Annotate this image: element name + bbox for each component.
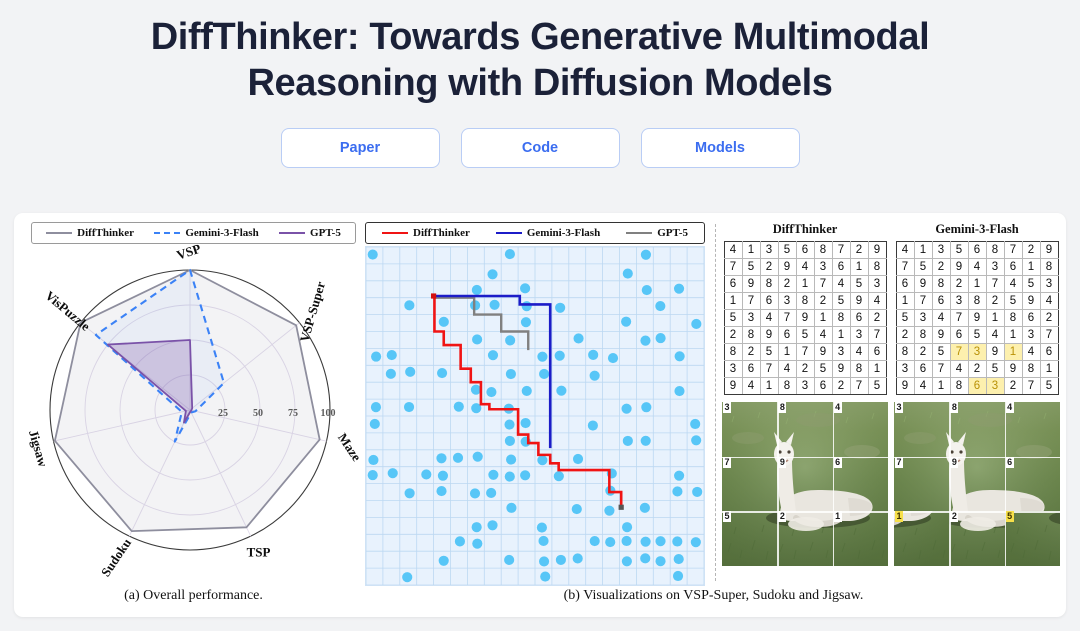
sudoku-cell: 9: [950, 259, 968, 276]
sudoku-cell: 7: [896, 259, 914, 276]
maze-legend: DiffThinker Gemini-3-Flash GPT-5: [365, 222, 705, 244]
sudoku-cell: 8: [914, 327, 932, 344]
sudoku-cell: 5: [778, 242, 796, 259]
svg-text:100: 100: [321, 408, 336, 419]
sudoku-cell: 7: [950, 344, 968, 361]
maze-obstacle-dot: [641, 537, 651, 547]
sudoku-cell: 8: [986, 242, 1004, 259]
jigsaw-tile-number: 7: [723, 457, 731, 468]
sudoku-cell: 2: [742, 344, 760, 361]
sudoku-jigsaw-column: DiffThinker 4135687297529436186982174531…: [722, 220, 1060, 587]
panel-divider: [715, 224, 716, 581]
maze-obstacle-dot: [488, 470, 498, 480]
sudoku-row: 367425981: [896, 361, 1058, 378]
title-line-2: Reasoning with Diffusion Models: [0, 60, 1080, 106]
maze-obstacle-dot: [505, 249, 515, 259]
sudoku-cell: 3: [986, 259, 1004, 276]
sudoku-cell: 8: [1004, 310, 1022, 327]
sudoku-cell: 2: [950, 276, 968, 293]
sudoku-row: 534791862: [724, 310, 886, 327]
maze-obstacle-dot: [506, 455, 516, 465]
jigsaw-tile: 8: [777, 402, 832, 457]
sudoku-cell: 1: [814, 310, 832, 327]
sudoku-cell: 9: [850, 293, 868, 310]
jigsaw-tile-number: 5: [723, 511, 731, 522]
jigsaw-tile: 7: [894, 457, 949, 512]
sudoku-cell: 6: [968, 242, 986, 259]
sudoku-cell: 5: [986, 361, 1004, 378]
maze-obstacle-dot: [572, 504, 582, 514]
jigsaw-tile: 2: [949, 511, 1004, 566]
jigsaw-tile: 4: [1005, 402, 1060, 457]
sudoku-cell: 5: [850, 276, 868, 293]
sudoku-cell: 3: [760, 242, 778, 259]
gemini-results-title: Gemini-3-Flash: [935, 222, 1018, 237]
maze-obstacle-dot: [404, 402, 414, 412]
maze-obstacle-dot: [656, 333, 666, 343]
maze-obstacle-dot: [370, 419, 380, 429]
jigsaw-tile: 6: [833, 457, 888, 512]
maze-obstacle-dot: [421, 469, 431, 479]
sudoku-grid-gemini: 4135687297529436186982174531763825945347…: [896, 241, 1059, 395]
sudoku-table: 4135687297529436186982174531763825945347…: [896, 241, 1059, 395]
maze-obstacle-dot: [640, 503, 650, 513]
sudoku-cell: 6: [896, 276, 914, 293]
sudoku-cell: 7: [1022, 378, 1040, 395]
sudoku-cell: 1: [986, 310, 1004, 327]
maze-obstacle-dot: [556, 386, 566, 396]
radar-axis-label: TSP: [247, 544, 271, 559]
paper-button[interactable]: Paper: [281, 128, 440, 168]
maze-path: [434, 296, 551, 448]
radar-legend: DiffThinker Gemini-3-Flash GPT-5: [31, 222, 356, 244]
sudoku-row: 413568729: [896, 242, 1058, 259]
maze-obstacle-dot: [404, 300, 414, 310]
sudoku-cell: 7: [1004, 242, 1022, 259]
sudoku-cell: 6: [1040, 344, 1058, 361]
sudoku-cell: 3: [832, 344, 850, 361]
sudoku-cell: 3: [896, 361, 914, 378]
maze-obstacle-dot: [455, 536, 465, 546]
maze-obstacle-dot: [490, 300, 500, 310]
sudoku-cell: 9: [796, 310, 814, 327]
sudoku-cell: 8: [796, 293, 814, 310]
maze-obstacle-dot: [522, 386, 532, 396]
maze-obstacle-dot: [642, 285, 652, 295]
jigsaw-grid-line: [894, 457, 1060, 458]
sudoku-cell: 6: [1004, 259, 1022, 276]
jigsaw-tile-number: 4: [1006, 402, 1014, 413]
maze-obstacle-dot: [608, 353, 618, 363]
sudoku-cell: 5: [742, 259, 760, 276]
jigsaw-tile-number: 1: [895, 511, 903, 522]
visualization-panel: DiffThinker Gemini-3-Flash GPT-5: [359, 220, 1060, 587]
sudoku-row: 752943618: [724, 259, 886, 276]
line-swatch-icon: [496, 232, 522, 234]
sudoku-cell: 1: [796, 276, 814, 293]
sudoku-cell: 1: [932, 378, 950, 395]
svg-text:25: 25: [218, 408, 228, 419]
jigsaw-tile-number: 6: [834, 457, 842, 468]
sudoku-cell: 1: [868, 361, 886, 378]
maze-legend-item-gpt5: GPT-5: [626, 227, 688, 239]
sudoku-cell: 7: [850, 378, 868, 395]
sudoku-cell: 3: [796, 378, 814, 395]
jigsaw-tile-number: 7: [895, 457, 903, 468]
sudoku-row: 825179346: [724, 344, 886, 361]
line-swatch-icon: [279, 232, 305, 234]
sudoku-cell: 7: [950, 310, 968, 327]
maze-obstacle-dot: [623, 268, 633, 278]
sudoku-row: 534791862: [896, 310, 1058, 327]
sudoku-cell: 4: [1004, 276, 1022, 293]
maze-obstacle-dot: [386, 369, 396, 379]
maze-obstacle-dot: [488, 350, 498, 360]
radar-axis-label: Jigsaw: [26, 428, 51, 469]
maze-legend-item-diffthinker: DiffThinker: [382, 227, 470, 239]
sudoku-cell: 3: [986, 378, 1004, 395]
jigsaw-grid-line: [833, 402, 834, 566]
maze-obstacle-dot: [674, 284, 684, 294]
sudoku-cell: 2: [850, 242, 868, 259]
models-button[interactable]: Models: [641, 128, 800, 168]
maze-obstacle-dot: [655, 556, 665, 566]
maze-obstacle-dot: [573, 454, 583, 464]
sudoku-cell: 7: [796, 344, 814, 361]
maze-obstacle-dot: [405, 367, 415, 377]
sudoku-cell: 8: [932, 276, 950, 293]
sudoku-cell: 8: [1022, 361, 1040, 378]
sudoku-cell: 1: [914, 242, 932, 259]
maze-obstacle-dot: [641, 436, 651, 446]
sudoku-cell: 3: [868, 276, 886, 293]
jigsaw-tile: 6: [1005, 457, 1060, 512]
jigsaw-tile-number: 8: [778, 402, 786, 413]
maze-obstacle-dot: [521, 317, 531, 327]
sudoku-cell: 6: [968, 378, 986, 395]
page-title: DiffThinker: Towards Generative Multimod…: [0, 0, 1080, 106]
sudoku-cell: 4: [932, 310, 950, 327]
sudoku-cell: 4: [896, 242, 914, 259]
sudoku-row: 176382594: [724, 293, 886, 310]
sudoku-cell: 4: [760, 310, 778, 327]
sudoku-cell: 4: [778, 361, 796, 378]
sudoku-cell: 6: [850, 310, 868, 327]
sudoku-cell: 8: [724, 344, 742, 361]
sudoku-cell: 6: [814, 378, 832, 395]
sudoku-cell: 5: [968, 327, 986, 344]
sudoku-cell: 2: [986, 293, 1004, 310]
sudoku-cell: 2: [868, 310, 886, 327]
sudoku-row: 413568729: [724, 242, 886, 259]
maze-obstacle-dot: [537, 352, 547, 362]
maze-obstacle-dot: [371, 352, 381, 362]
jigsaw-tile: 8: [949, 402, 1004, 457]
sudoku-cell: 6: [868, 344, 886, 361]
maze-legend-label-diffthinker: DiffThinker: [413, 227, 470, 239]
maze-obstacle-dot: [605, 537, 615, 547]
jigsaw-grid-line: [722, 511, 888, 512]
radar-legend-label-gpt5: GPT-5: [310, 227, 341, 239]
maze-obstacle-dot: [655, 301, 665, 311]
caption-a: (a) Overall performance.: [20, 588, 367, 604]
sudoku-cell: 4: [796, 259, 814, 276]
jigsaw-tile: 9: [949, 457, 1004, 512]
jigsaw-tile-number: 1: [834, 511, 842, 522]
sudoku-cell: 6: [724, 276, 742, 293]
maze-obstacle-dot: [590, 371, 600, 381]
maze-obstacle-dot: [371, 402, 381, 412]
sudoku-cell: 2: [760, 259, 778, 276]
sudoku-cell: 7: [760, 361, 778, 378]
sudoku-cell: 2: [968, 361, 986, 378]
sudoku-cell: 2: [724, 327, 742, 344]
maze-obstacle-dot: [556, 555, 566, 565]
maze-obstacle-dot: [486, 488, 496, 498]
sudoku-cell: 1: [742, 242, 760, 259]
sudoku-cell: 7: [1040, 327, 1058, 344]
maze-obstacle-dot: [470, 488, 480, 498]
jigsaw-tile: 4: [833, 402, 888, 457]
maze-obstacle-dot: [622, 536, 632, 546]
sudoku-cell: 7: [742, 293, 760, 310]
sudoku-cell: 6: [832, 259, 850, 276]
sudoku-cell: 1: [850, 259, 868, 276]
jigsaw-tile-number: 9: [778, 457, 786, 468]
maze-obstacle-dot: [402, 572, 412, 582]
jigsaw-tile-number: 3: [895, 402, 903, 413]
maze-legend-item-gemini: Gemini-3-Flash: [496, 227, 600, 239]
maze-obstacle-dot: [504, 555, 514, 565]
sudoku-cell: 9: [896, 378, 914, 395]
sudoku-cell: 4: [832, 276, 850, 293]
maze-obstacle-dot: [487, 520, 497, 530]
maze-obstacle-dot: [622, 556, 632, 566]
maze-obstacle-dot: [640, 336, 650, 346]
jigsaw-tile: 7: [722, 457, 777, 512]
radar-axis-label: Sudoku: [98, 536, 134, 580]
sudoku-cell: 5: [1004, 293, 1022, 310]
sudoku-row: 698217453: [896, 276, 1058, 293]
maze-obstacle-dot: [486, 387, 496, 397]
radar-legend-item-gemini: Gemini-3-Flash: [154, 227, 258, 239]
maze-legend-label-gemini: Gemini-3-Flash: [527, 227, 600, 239]
sudoku-cell: 7: [778, 310, 796, 327]
sudoku-grid-diffthinker: 4135687297529436186982174531763825945347…: [724, 241, 887, 395]
maze-obstacle-dot: [539, 556, 549, 566]
line-swatch-icon: [626, 232, 652, 234]
jigsaw-tile: 5: [722, 511, 777, 566]
jigsaw-tile-number: 2: [950, 511, 958, 522]
diffthinker-results-title: DiffThinker: [773, 222, 838, 237]
sudoku-cell: 7: [832, 242, 850, 259]
jigsaw-tile-number: 2: [778, 511, 786, 522]
sudoku-cell: 1: [832, 327, 850, 344]
maze-obstacle-dot: [604, 506, 614, 516]
radar-legend-label-diffthinker: DiffThinker: [77, 227, 134, 239]
jigsaw-tile: 1: [894, 511, 949, 566]
sudoku-cell: 8: [778, 378, 796, 395]
maze-grid: [365, 246, 705, 586]
line-swatch-icon: [382, 232, 408, 234]
maze-obstacle-dot: [405, 488, 415, 498]
sudoku-cell: 7: [914, 293, 932, 310]
maze-obstacle-dot: [672, 486, 682, 496]
sudoku-cell: 9: [760, 327, 778, 344]
jigsaw-tile: 5: [1005, 511, 1060, 566]
maze-obstacle-dot: [388, 468, 398, 478]
maze-legend-label-gpt5: GPT-5: [657, 227, 688, 239]
sudoku-cell: 5: [914, 259, 932, 276]
maze-obstacle-dot: [672, 536, 682, 546]
sudoku-cell: 8: [832, 310, 850, 327]
maze-obstacle-dot: [537, 522, 547, 532]
radar-chart: 255075100VSPVSP-SuperMazeTSPSudokuJigsaw…: [20, 242, 367, 587]
sudoku-cell: 9: [1022, 293, 1040, 310]
sudoku-cell: 7: [932, 361, 950, 378]
maze-obstacle-dot: [387, 350, 397, 360]
code-button[interactable]: Code: [461, 128, 620, 168]
sudoku-row: 289654137: [724, 327, 886, 344]
maze-obstacle-dot: [505, 335, 515, 345]
jigsaw-grid-line: [894, 511, 1060, 512]
sudoku-cell: 2: [796, 361, 814, 378]
jigsaw-tile: 3: [894, 402, 949, 457]
jigsaw-tile: 3: [722, 402, 777, 457]
maze-obstacle-dot: [673, 571, 683, 581]
sudoku-cell: 5: [760, 344, 778, 361]
maze-obstacle-dot: [520, 283, 530, 293]
sudoku-cell: 8: [950, 378, 968, 395]
sudoku-cell: 3: [724, 361, 742, 378]
sudoku-row: 698217453: [724, 276, 886, 293]
maze-obstacle-dot: [623, 436, 633, 446]
sudoku-cell: 7: [724, 259, 742, 276]
maze-obstacle-dot: [691, 319, 701, 329]
sudoku-cell: 6: [760, 293, 778, 310]
sudoku-cell: 2: [914, 344, 932, 361]
sudoku-cell: 1: [968, 276, 986, 293]
sudoku-cell: 9: [968, 310, 986, 327]
sudoku-cell: 1: [760, 378, 778, 395]
maze-obstacle-dot: [621, 317, 631, 327]
jigsaw-grid-line: [1005, 402, 1006, 566]
sudoku-cell: 5: [896, 310, 914, 327]
jigsaw-grid-line: [777, 402, 778, 566]
maze-obstacle-dot: [438, 471, 448, 481]
radar-legend-label-gemini: Gemini-3-Flash: [185, 227, 258, 239]
jigsaw-tile-number: 8: [950, 402, 958, 413]
sudoku-cell: 3: [814, 259, 832, 276]
sudoku-cell: 8: [742, 327, 760, 344]
sudoku-cell: 4: [814, 327, 832, 344]
sudoku-cell: 1: [1004, 344, 1022, 361]
sudoku-cell: 1: [1004, 327, 1022, 344]
sudoku-cell: 9: [1004, 361, 1022, 378]
jigsaw-tile-number: 9: [950, 457, 958, 468]
maze-obstacle-dot: [472, 334, 482, 344]
maze-obstacle-dot: [472, 522, 482, 532]
sudoku-row: 176382594: [896, 293, 1058, 310]
sudoku-cell: 2: [932, 259, 950, 276]
sudoku-cell: 4: [850, 344, 868, 361]
sudoku-cell: 6: [1022, 310, 1040, 327]
sudoku-cell: 1: [1022, 259, 1040, 276]
sudoku-cell: 9: [914, 276, 932, 293]
sudoku-cell: 3: [968, 344, 986, 361]
maze-obstacle-dot: [436, 486, 446, 496]
maze-obstacle-dot: [588, 350, 598, 360]
sudoku-cell: 4: [914, 378, 932, 395]
dashed-line-swatch-icon: [154, 232, 180, 234]
figure-body: DiffThinker Gemini-3-Flash GPT-5 2550751…: [14, 213, 1066, 587]
maze-obstacle-dot: [472, 285, 482, 295]
jigsaw-grid-line: [722, 457, 888, 458]
jigsaw-tile-number: 5: [1006, 511, 1014, 522]
maze-obstacle-dot: [437, 368, 447, 378]
maze-obstacle-dot: [573, 333, 583, 343]
sudoku-cell: 5: [724, 310, 742, 327]
sudoku-row: 289654137: [896, 327, 1058, 344]
sudoku-cell: 3: [950, 293, 968, 310]
sudoku-cell: 8: [896, 344, 914, 361]
maze-obstacle-dot: [471, 385, 481, 395]
sudoku-cell: 6: [950, 327, 968, 344]
maze-obstacle-dot: [473, 452, 483, 462]
maze-obstacle-dot: [674, 554, 684, 564]
sudoku-cell: 1: [724, 293, 742, 310]
sudoku-row: 752943618: [896, 259, 1058, 276]
sudoku-cell: 2: [1022, 242, 1040, 259]
sudoku-cell: 8: [760, 276, 778, 293]
maze-obstacle-dot: [506, 503, 516, 513]
maze-obstacle-dot: [454, 402, 464, 412]
sudoku-cell: 6: [778, 327, 796, 344]
sudoku-cell: 1: [778, 344, 796, 361]
maze-obstacle-dot: [675, 351, 685, 361]
maze-obstacle-dot: [622, 522, 632, 532]
sudoku-cell: 2: [814, 293, 832, 310]
figure-captions: (a) Overall performance. (b) Visualizati…: [14, 587, 1066, 617]
sudoku-cell: 2: [1004, 378, 1022, 395]
sudoku-cell: 9: [1040, 242, 1058, 259]
maze-obstacle-dot: [590, 536, 600, 546]
maze-svg: [366, 247, 704, 585]
sudoku-cell: 6: [914, 361, 932, 378]
maze-obstacle-dot: [436, 453, 446, 463]
sudoku-cell: 7: [814, 276, 832, 293]
sudoku-cell: 4: [1022, 344, 1040, 361]
sudoku-cell: 9: [814, 344, 832, 361]
sudoku-cell: 4: [742, 378, 760, 395]
sudoku-row: 941836275: [724, 378, 886, 395]
radar-axis-label: VSP-Super: [297, 280, 329, 344]
maze-obstacle-dot: [674, 471, 684, 481]
svg-text:75: 75: [288, 408, 298, 419]
maze-obstacle-dot: [655, 536, 665, 546]
sudoku-cell: 3: [742, 310, 760, 327]
maze-obstacle-dot: [540, 572, 550, 582]
maze-obstacle-dot: [640, 553, 650, 563]
radar-legend-item-diffthinker: DiffThinker: [46, 227, 134, 239]
sudoku-cell: 3: [932, 242, 950, 259]
radar-axis-label: VSP: [175, 242, 203, 263]
sudoku-cell: 2: [832, 378, 850, 395]
sudoku-cell: 3: [1040, 276, 1058, 293]
sudoku-cell: 5: [814, 361, 832, 378]
sudoku-cell: 5: [932, 344, 950, 361]
maze-obstacle-dot: [520, 470, 530, 480]
